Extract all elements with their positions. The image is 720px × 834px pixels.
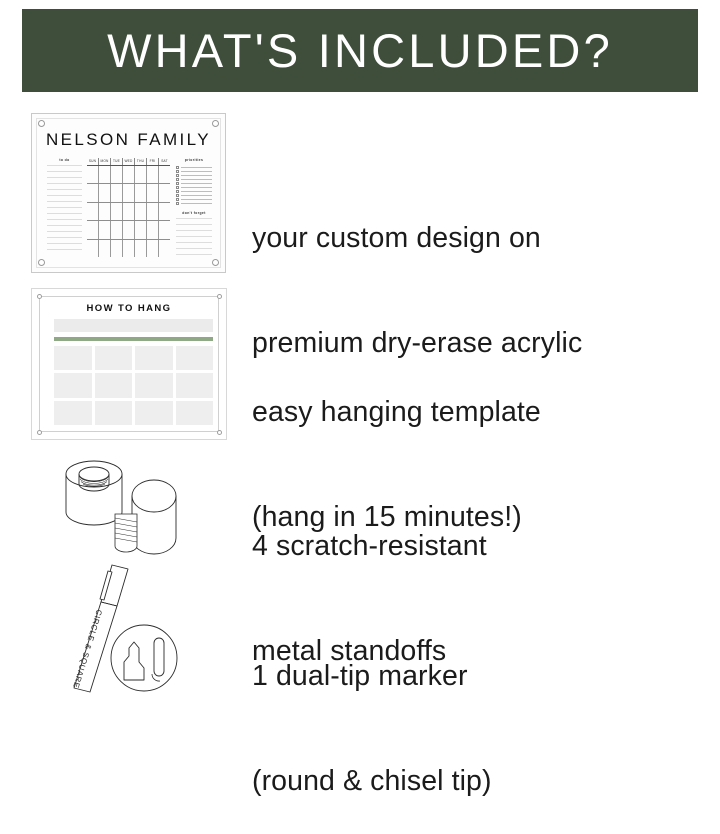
calendar-priorities-label: priorities [176, 158, 212, 162]
calendar-day-thu: THU [135, 158, 147, 165]
calendar-family-name: NELSON FAMILY [32, 130, 225, 150]
calendar-dontforget-lines [176, 218, 212, 255]
hanging-template-accent-line [54, 337, 213, 341]
template-block [176, 401, 214, 425]
template-block [135, 401, 173, 425]
hanging-template-title: HOW TO HANG [32, 303, 226, 314]
hanging-template-grid [54, 346, 213, 425]
template-corner-marker-bottom-left [37, 430, 42, 435]
calendar-week-rows [87, 166, 170, 257]
calendar-todo-label: to do [47, 158, 82, 162]
standoff-screw-post [115, 514, 137, 552]
calendar-day-sun: SUN [87, 158, 99, 165]
template-block [95, 401, 133, 425]
calendar-day-wed: WED [123, 158, 135, 165]
standoff-marker-bottom-right [212, 259, 219, 266]
template-block [54, 401, 92, 425]
calendar-board-illustration: NELSON FAMILY to do SUN MON TUE WED THU … [31, 113, 226, 273]
template-block [135, 346, 173, 370]
calendar-day-fri: FRI [147, 158, 159, 165]
feature-standoffs-line1: 4 scratch-resistant [252, 529, 487, 564]
template-corner-marker-top-right [217, 294, 222, 299]
marker-tip-inset-circle [111, 625, 177, 691]
calendar-day-mon: MON [99, 158, 111, 165]
calendar-dontforget-panel: don't forget [176, 207, 212, 256]
calendar-month-grid: SUN MON TUE WED THU FRI SAT [87, 158, 170, 256]
calendar-todo-lines [47, 165, 82, 255]
calendar-week-row [87, 221, 170, 239]
calendar-week-row [87, 240, 170, 257]
calendar-priorities-panel: priorities [176, 158, 212, 207]
feature-marker-line2: (round & chisel tip) [252, 764, 492, 799]
feature-marker-line1: 1 dual-tip marker [252, 659, 492, 694]
standoff-cap-face [132, 480, 176, 512]
calendar-day-header-row: SUN MON TUE WED THU FRI SAT [87, 158, 170, 166]
template-block [135, 373, 173, 397]
template-block [176, 373, 214, 397]
round-tip-icon [154, 638, 164, 676]
calendar-side-panels: priorities don't forget [176, 158, 212, 256]
calendar-week-row [87, 184, 170, 202]
feature-text-marker: 1 dual-tip marker (round & chisel tip) [252, 589, 492, 834]
template-block [176, 346, 214, 370]
feature-template-line1: easy hanging template [252, 395, 541, 430]
standoff-marker-bottom-left [38, 259, 45, 266]
hanging-template-header-bar [54, 319, 213, 332]
calendar-week-row [87, 166, 170, 184]
template-block [54, 373, 92, 397]
calendar-week-row [87, 203, 170, 221]
calendar-dontforget-label: don't forget [176, 211, 212, 215]
calendar-grid-body [87, 166, 170, 257]
marker-illustration: CIRCLE & SQUARE [68, 562, 183, 694]
calendar-day-sat: SAT [159, 158, 170, 165]
template-corner-marker-bottom-right [217, 430, 222, 435]
header-banner: WHAT'S INCLUDED? [22, 9, 698, 92]
checkbox-icon [176, 202, 179, 205]
template-block [95, 346, 133, 370]
calendar-priorities-checklist [176, 165, 212, 205]
template-block [54, 346, 92, 370]
checklist-item [176, 201, 212, 205]
template-block [95, 373, 133, 397]
standoff-illustration [58, 452, 208, 560]
hanging-template-illustration: HOW TO HANG [31, 288, 227, 440]
standoff-barrel-bore [79, 467, 109, 481]
template-corner-marker-top-left [37, 294, 42, 299]
calendar-day-tue: TUE [111, 158, 123, 165]
feature-acrylic-line1: your custom design on [252, 221, 582, 256]
calendar-todo-panel: to do [47, 158, 82, 256]
standoff-marker-top-left [38, 120, 45, 127]
page-title: WHAT'S INCLUDED? [107, 23, 613, 78]
standoff-marker-top-right [212, 120, 219, 127]
